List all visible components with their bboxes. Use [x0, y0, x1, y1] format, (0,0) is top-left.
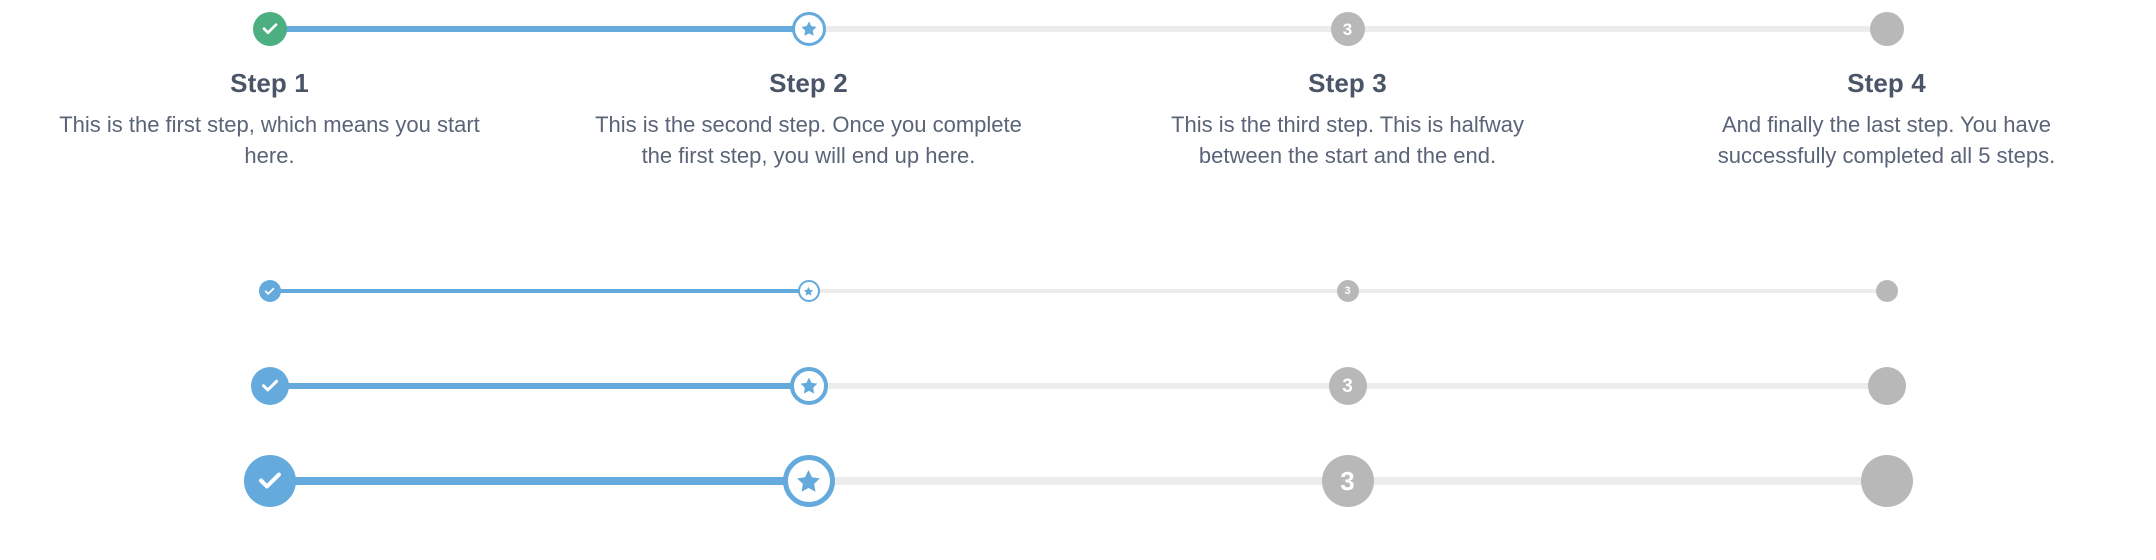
- star-icon: [799, 376, 819, 396]
- connector-left: [1078, 26, 1348, 32]
- step-track: 3: [1078, 280, 1617, 302]
- step-item-4[interactable]: Step 4And finally the last step. You hav…: [1617, 12, 2156, 171]
- step-track: [539, 455, 1078, 507]
- step-track: [1617, 280, 2156, 302]
- step-item-1[interactable]: [0, 455, 539, 507]
- step-marker-upcoming[interactable]: [1868, 367, 1906, 405]
- step-marker-current[interactable]: [792, 12, 826, 46]
- step-item-3[interactable]: 3: [1078, 455, 1617, 507]
- connector-right: [270, 26, 540, 32]
- connector-right: [809, 26, 1079, 32]
- step-marker-current[interactable]: [783, 455, 835, 507]
- step-item-4[interactable]: [1617, 455, 2156, 507]
- step-track: [1617, 455, 2156, 507]
- step-item-2[interactable]: Step 2This is the second step. Once you …: [539, 12, 1078, 171]
- step-marker-pending[interactable]: 3: [1329, 367, 1367, 405]
- step-text-block: Step 4And finally the last step. You hav…: [1617, 46, 2156, 171]
- step-track: 3: [1078, 367, 1617, 405]
- star-icon: [803, 286, 814, 297]
- step-track: [1617, 367, 2156, 405]
- connector-left: [539, 477, 809, 485]
- step-description: This is the first step, which means you …: [55, 109, 485, 171]
- step-text-block: Step 2This is the second step. Once you …: [539, 46, 1078, 171]
- connector-left: [1617, 26, 1887, 32]
- connector-right: [809, 289, 1079, 293]
- connector-right: [270, 477, 540, 485]
- step-item-3[interactable]: 3Step 3This is the third step. This is h…: [1078, 12, 1617, 171]
- connector-left: [1617, 383, 1887, 389]
- stepper-demo: Step 1This is the first step, which mean…: [0, 0, 2156, 560]
- step-text-block: Step 1This is the first step, which mean…: [0, 46, 539, 171]
- step-description: This is the second step. Once you comple…: [594, 109, 1024, 171]
- step-description: And finally the last step. You have succ…: [1672, 109, 2102, 171]
- connector-left: [1078, 289, 1348, 293]
- connector-right: [1348, 477, 1618, 485]
- stepper-row-medium: 3: [0, 367, 2156, 405]
- connector-left: [539, 26, 809, 32]
- check-icon: [255, 466, 285, 496]
- connector-right: [270, 289, 540, 293]
- step-title: Step 4: [1631, 68, 2142, 99]
- connector-left: [1078, 383, 1348, 389]
- connector-left: [1078, 477, 1348, 485]
- step-track: 3: [1078, 12, 1617, 46]
- stepper-row-default: Step 1This is the first step, which mean…: [0, 12, 2156, 171]
- step-number-label: 3: [1343, 21, 1352, 38]
- connector-right: [270, 383, 540, 389]
- step-item-1[interactable]: Step 1This is the first step, which mean…: [0, 12, 539, 171]
- step-marker-pending[interactable]: 3: [1331, 12, 1365, 46]
- step-title: Step 1: [14, 68, 525, 99]
- step-marker-current[interactable]: [798, 280, 820, 302]
- connector-left: [539, 289, 809, 293]
- star-icon: [795, 468, 822, 495]
- step-track: [1617, 12, 2156, 46]
- step-title: Step 3: [1092, 68, 1603, 99]
- step-item-4[interactable]: [1617, 367, 2156, 405]
- connector-right: [809, 477, 1079, 485]
- connector-left: [539, 383, 809, 389]
- step-track: [539, 367, 1078, 405]
- step-text-block: Step 3This is the third step. This is ha…: [1078, 46, 1617, 171]
- stepper-row-small: 3: [0, 280, 2156, 302]
- step-item-4[interactable]: [1617, 280, 2156, 302]
- step-marker-pending[interactable]: 3: [1322, 455, 1374, 507]
- step-item-2[interactable]: [539, 455, 1078, 507]
- step-marker-upcoming[interactable]: [1870, 12, 1904, 46]
- connector-right: [1348, 26, 1618, 32]
- step-item-3[interactable]: 3: [1078, 367, 1617, 405]
- check-icon: [259, 375, 281, 397]
- step-marker-complete[interactable]: [253, 12, 287, 46]
- step-track: [0, 455, 539, 507]
- check-icon: [263, 285, 276, 298]
- connector-right: [809, 383, 1079, 389]
- step-track: [539, 280, 1078, 302]
- step-marker-complete[interactable]: [244, 455, 296, 507]
- step-marker-pending[interactable]: 3: [1337, 280, 1359, 302]
- step-marker-upcoming[interactable]: [1861, 455, 1913, 507]
- stepper-row-large: 3: [0, 455, 2156, 507]
- step-item-2[interactable]: [539, 367, 1078, 405]
- step-title: Step 2: [553, 68, 1064, 99]
- step-track: [0, 280, 539, 302]
- step-track: [0, 367, 539, 405]
- step-number-label: 3: [1344, 286, 1350, 297]
- step-track: [539, 12, 1078, 46]
- step-item-3[interactable]: 3: [1078, 280, 1617, 302]
- step-item-1[interactable]: [0, 367, 539, 405]
- connector-left: [1617, 289, 1887, 293]
- step-marker-complete[interactable]: [259, 280, 281, 302]
- connector-left: [1617, 477, 1887, 485]
- step-marker-complete[interactable]: [251, 367, 289, 405]
- step-track: 3: [1078, 455, 1617, 507]
- step-description: This is the third step. This is halfway …: [1133, 109, 1563, 171]
- step-marker-upcoming[interactable]: [1876, 280, 1898, 302]
- step-item-1[interactable]: [0, 280, 539, 302]
- step-marker-current[interactable]: [790, 367, 828, 405]
- connector-right: [1348, 383, 1618, 389]
- step-number-label: 3: [1340, 468, 1354, 494]
- step-track: [0, 12, 539, 46]
- connector-right: [1348, 289, 1618, 293]
- step-item-2[interactable]: [539, 280, 1078, 302]
- check-icon: [260, 19, 280, 39]
- star-icon: [800, 20, 818, 38]
- step-number-label: 3: [1342, 377, 1353, 396]
